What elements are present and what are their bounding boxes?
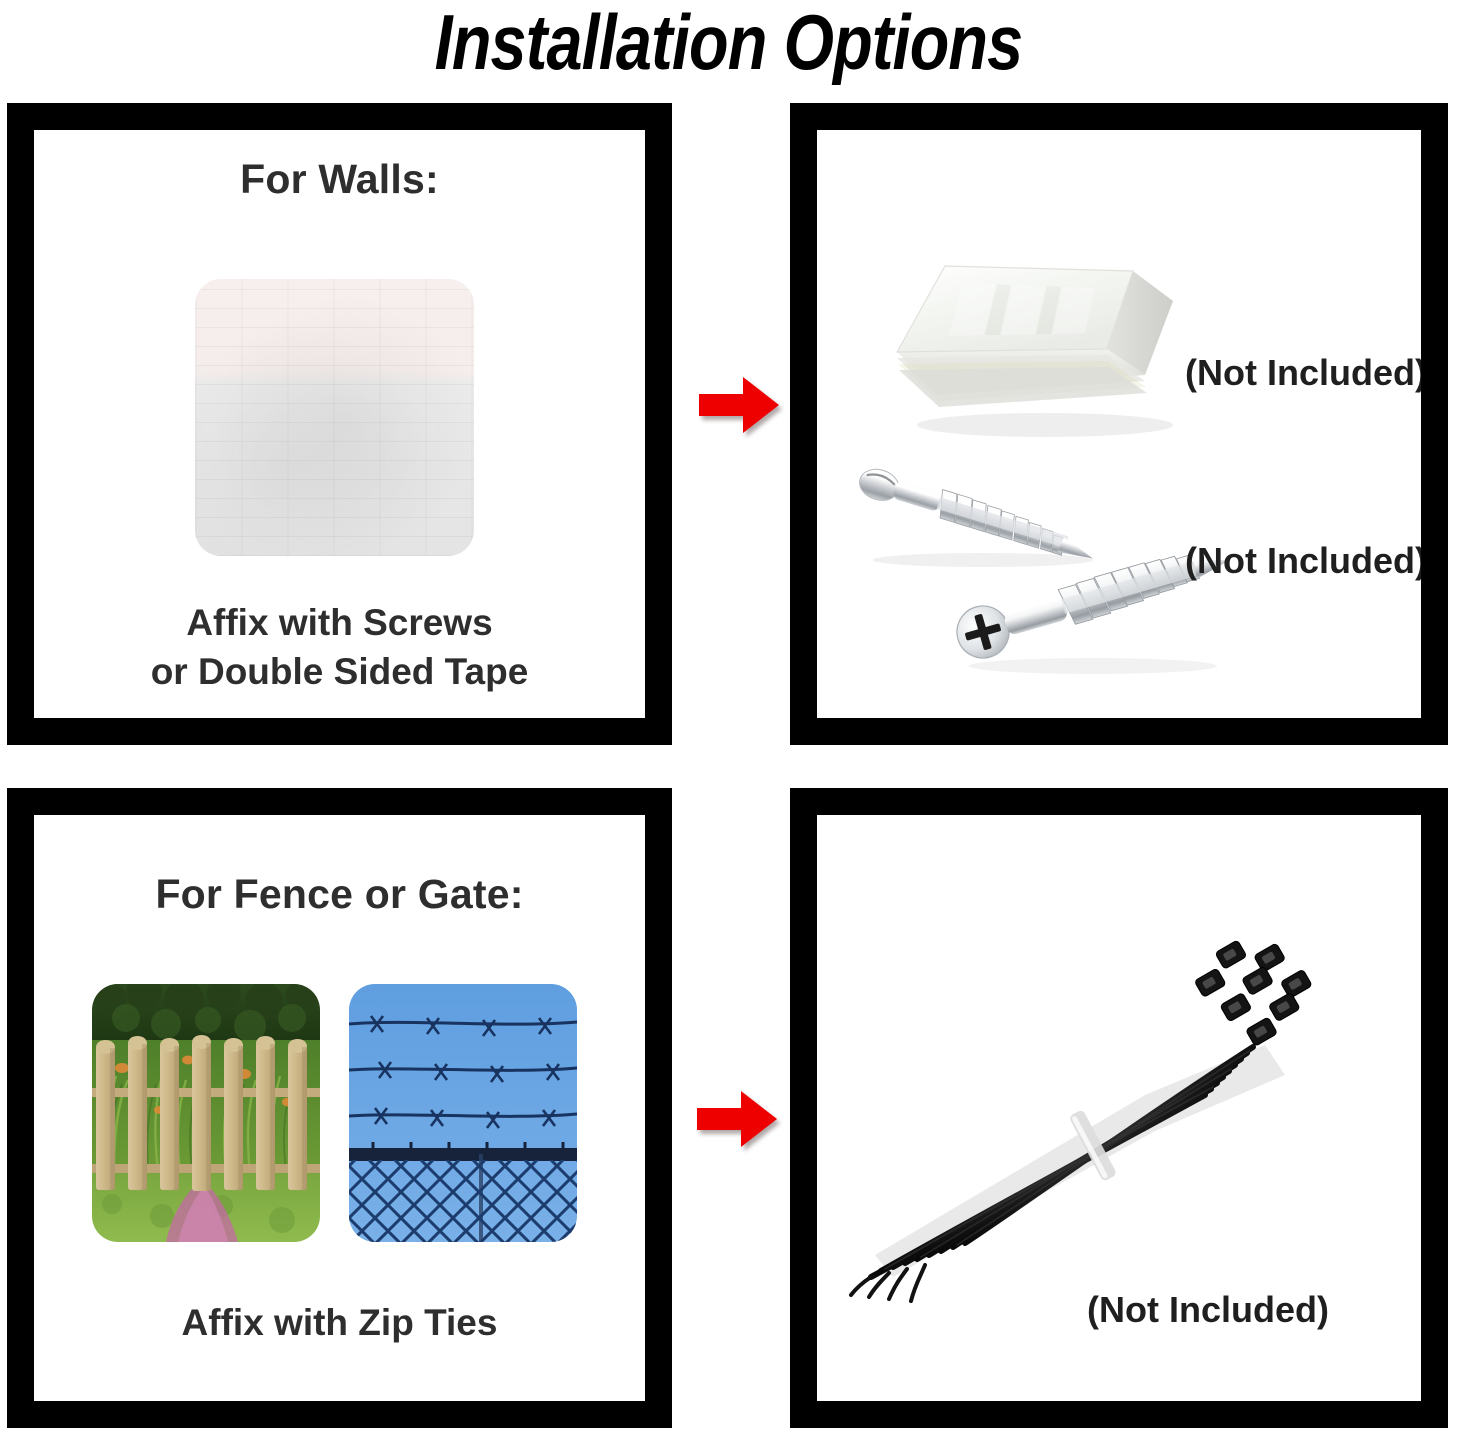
red-right-arrow-fence-icon [695,1088,779,1150]
installation-options-grid: For Walls: Affix with Screws or Double S… [7,103,1448,1428]
panel-caption-for-fence-or-gate: Affix with Zip Ties [34,1298,645,1347]
double-sided-tape-stack-image [885,257,1185,442]
panel-for-walls-content: For Walls: Affix with Screws or Double S… [34,130,645,718]
not-included-label-zip-ties: (Not Included) [1087,1289,1329,1331]
caption-line-1: Affix with Screws [34,598,645,647]
chain-link-barbed-wire-fence-photo [349,984,577,1242]
panel-fence-hardware: (Not Included) [790,788,1448,1428]
not-included-label-tape: (Not Included) [1185,352,1421,394]
panel-caption-for-walls: Affix with Screws or Double Sided Tape [34,598,645,696]
black-zip-ties-bundle-image [845,925,1339,1305]
wooden-picket-fence-photo [92,984,320,1242]
panel-for-walls: For Walls: Affix with Screws or Double S… [7,103,672,745]
caption-line-2: or Double Sided Tape [34,647,645,696]
panel-fence-hardware-content: (Not Included) [817,815,1421,1401]
white-brick-wall-photo [195,279,474,556]
panel-wall-hardware: (Not Included) [790,103,1448,745]
panel-for-fence-or-gate: For Fence or Gate: [7,788,672,1428]
not-included-label-screws: (Not Included) [1185,540,1421,582]
panel-for-fence-or-gate-content: For Fence or Gate: [34,815,645,1401]
panel-heading-for-fence-or-gate: For Fence or Gate: [34,871,645,918]
caption-line-1: Affix with Zip Ties [34,1298,645,1347]
page-title: Installation Options [124,0,1333,90]
panel-heading-for-walls: For Walls: [34,156,645,203]
red-right-arrow-walls-icon [697,374,781,436]
panel-wall-hardware-content: (Not Included) [817,130,1421,718]
